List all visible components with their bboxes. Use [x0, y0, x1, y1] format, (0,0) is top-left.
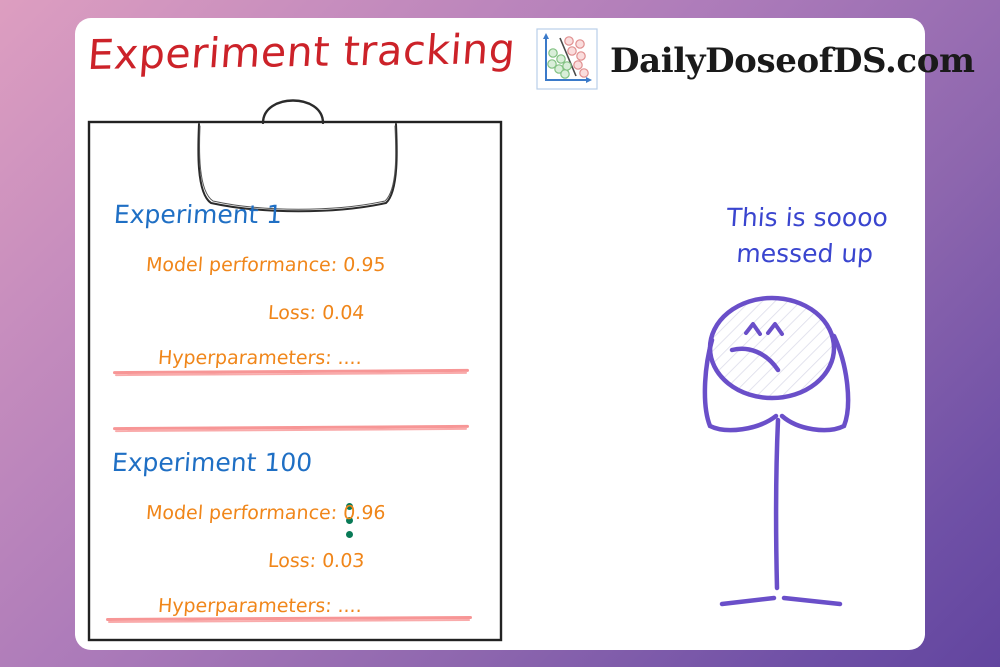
clipboard-content: Experiment 1 Model performance: 0.95 Los… [88, 121, 500, 639]
experiment-100-performance: Model performance: 0.96 [145, 502, 386, 524]
experiment-1-performance: Model performance: 0.95 [145, 254, 386, 276]
experiment-100-heading: Experiment 100 [111, 448, 313, 477]
experiment-100-hyperparameters: Hyperparameters: .... [157, 595, 362, 617]
annotation-text: This is soooo messed up [687, 200, 924, 273]
experiment-1-loss: Loss: 0.04 [267, 302, 365, 324]
brand-logo: DailyDoseofDS.com [536, 28, 975, 94]
ellipsis-dot [346, 531, 353, 538]
experiment-1-heading: Experiment 1 [113, 200, 283, 229]
experiment-100-loss: Loss: 0.03 [267, 550, 365, 572]
separator-line-middle [113, 425, 469, 430]
annotation-line-1: This is soooo [690, 200, 925, 236]
experiment-1-hyperparameters: Hyperparameters: .... [157, 347, 362, 369]
frustrated-stick-figure-icon [686, 288, 876, 632]
clipboard: Experiment 1 Model performance: 0.95 Los… [88, 121, 500, 639]
separator-line-top [113, 369, 469, 374]
brand-name: DailyDoseofDS.com [610, 41, 975, 81]
page-title: Experiment tracking [86, 25, 517, 79]
scatter-plot-classifier-icon [536, 28, 598, 94]
annotation-line-2: messed up [687, 236, 922, 272]
separator-line-bottom [106, 616, 472, 621]
